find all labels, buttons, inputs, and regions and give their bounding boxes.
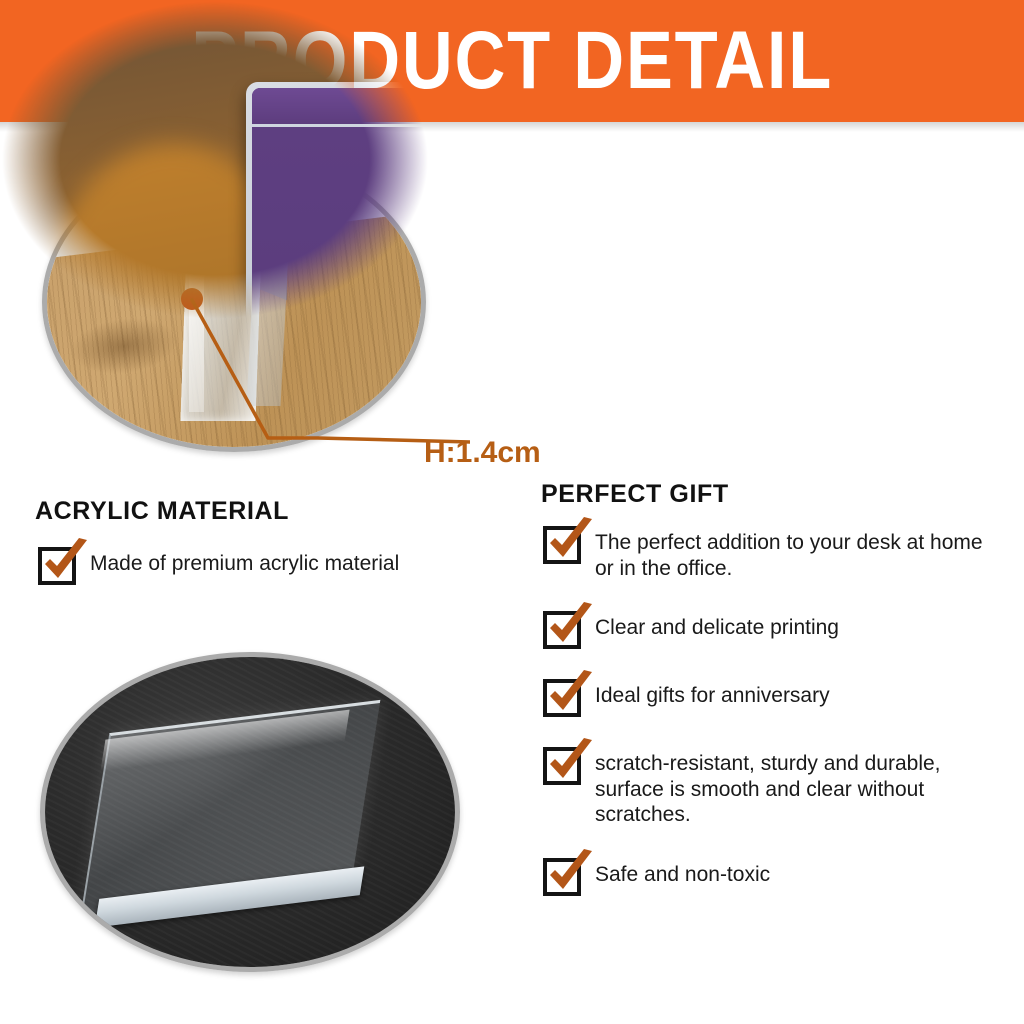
check-icon — [544, 849, 596, 897]
feature-item-label: Ideal gifts for anniversary — [595, 677, 830, 709]
feature-item-label: The perfect addition to your desk at hom… — [595, 524, 1005, 581]
feature-item: Safe and non-toxic — [543, 856, 1005, 896]
plaque-frame: DAD YOU ARE... HAPPY FATHER'S DAY As str… — [246, 82, 430, 320]
feature-item: Made of premium acrylic material — [38, 545, 508, 585]
feature-item: Ideal gifts for anniversary — [543, 677, 1005, 717]
checkbox-checked-icon[interactable] — [543, 747, 581, 785]
photo-product-scene: DAD YOU ARE... HAPPY FATHER'S DAY As str… — [0, 0, 430, 320]
section-heading-acrylic-material: ACRYLIC MATERIAL — [35, 497, 289, 526]
check-icon — [544, 602, 596, 650]
feature-list-acrylic-material: Made of premium acrylic material — [38, 545, 508, 603]
checkbox-checked-icon[interactable] — [543, 858, 581, 896]
feature-item: Clear and delicate printing — [543, 609, 1005, 649]
plaque-character: As strong as...GOKU — [257, 133, 384, 320]
checkbox-checked-icon[interactable] — [543, 679, 581, 717]
feature-item: scratch-resistant, sturdy and durable, s… — [543, 745, 1005, 828]
feature-item-label: scratch-resistant, sturdy and durable, s… — [595, 745, 1005, 828]
plaque-character: As brave as...VEGETA — [385, 133, 430, 320]
plaque-character-grid: As strong as...GOKUAs brave as...VEGETAA… — [252, 127, 430, 320]
plaque-title: DAD YOU ARE... — [252, 93, 430, 109]
feature-item: The perfect addition to your desk at hom… — [543, 524, 1005, 581]
plaque-header: DAD YOU ARE... HAPPY FATHER'S DAY — [252, 88, 430, 127]
checkbox-checked-icon[interactable] — [543, 526, 581, 564]
plaque-subtitle: HAPPY FATHER'S DAY — [252, 111, 430, 120]
feature-list-perfect-gift: The perfect addition to your desk at hom… — [543, 524, 1005, 924]
feature-item-label: Made of premium acrylic material — [90, 545, 399, 577]
check-icon — [544, 738, 596, 786]
plaque-face: DAD YOU ARE... HAPPY FATHER'S DAY As str… — [252, 88, 430, 320]
checkbox-checked-icon[interactable] — [543, 611, 581, 649]
feature-item-label: Safe and non-toxic — [595, 856, 770, 888]
checkbox-checked-icon[interactable] — [38, 547, 76, 585]
photo-dragonball-plaque: DAD YOU ARE... HAPPY FATHER'S DAY As str… — [0, 0, 430, 320]
photo-block-scene — [45, 657, 455, 967]
photo-acrylic-block-on-slate — [40, 652, 460, 972]
feature-item-label: Clear and delicate printing — [595, 609, 839, 641]
check-icon — [544, 670, 596, 718]
check-icon — [39, 538, 91, 586]
section-heading-perfect-gift: PERFECT GIFT — [541, 480, 729, 509]
check-icon — [544, 517, 596, 565]
callout-height-label: H:1.4cm — [424, 436, 541, 470]
